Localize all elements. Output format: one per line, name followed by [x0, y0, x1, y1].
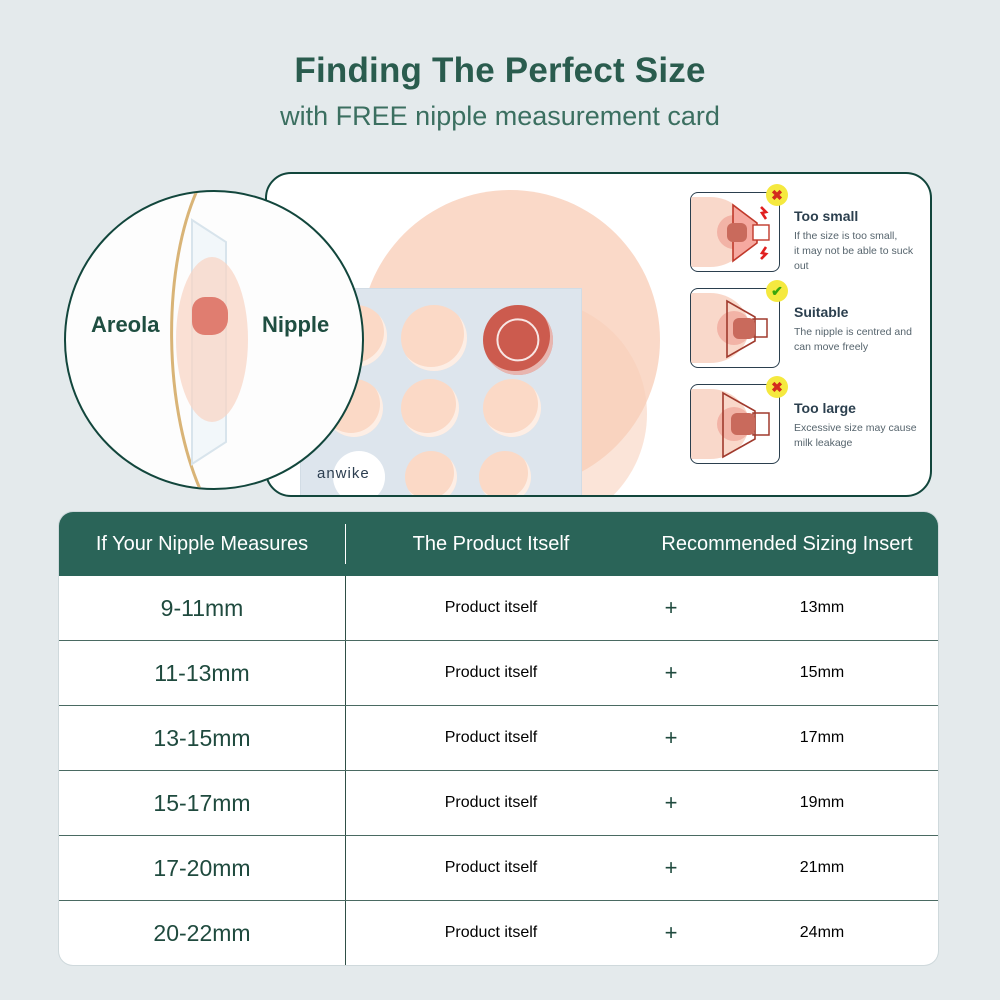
cell-plus: + [636, 920, 706, 946]
nipple-icon [727, 223, 747, 242]
table-row: 9-11mm Product itself + 13mm [59, 576, 938, 640]
sizing-table: If Your Nipple Measures The Product Itse… [59, 512, 938, 965]
page-subtitle: with FREE nipple measurement card [0, 102, 1000, 132]
table-body: 9-11mm Product itself + 13mm 11-13mm Pro… [59, 576, 938, 965]
fit-guide-title: Too large [794, 400, 917, 416]
zoom-detail-circle: Areola Nipple [64, 190, 364, 490]
cell-measure: 11-13mm [59, 641, 346, 705]
cell-insert: 19mm [706, 794, 938, 812]
fit-guide-list: ✖ Too small If the size is too small, it… [690, 192, 930, 480]
too-small-thumbnail: ✖ [690, 192, 780, 272]
measurement-hole [483, 379, 541, 437]
measurement-hole [401, 379, 459, 437]
cell-product: Product itself [346, 599, 636, 617]
cell-product: Product itself [346, 729, 636, 747]
areola-label: Areola [91, 312, 159, 338]
cell-measure: 17-20mm [59, 836, 346, 900]
fit-guide-title: Suitable [794, 304, 912, 320]
fit-guide-desc: The nipple is centred and can move freel… [794, 325, 912, 355]
fit-guide-item-suitable: ✔ Suitable The nipple is centred and can… [690, 288, 930, 384]
cell-plus: + [636, 725, 706, 751]
measurement-hole-selected [483, 305, 553, 375]
table-header-measures: If Your Nipple Measures [59, 524, 346, 564]
cell-insert: 17mm [706, 729, 938, 747]
cell-plus: + [636, 595, 706, 621]
cell-plus: + [636, 790, 706, 816]
cell-plus: + [636, 855, 706, 881]
page-title: Finding The Perfect Size [0, 52, 1000, 91]
page-header: Finding The Perfect Size with FREE nippl… [0, 52, 1000, 131]
cell-measure: 15-17mm [59, 771, 346, 835]
nipple-icon [731, 413, 755, 435]
cell-measure: 9-11mm [59, 576, 346, 640]
table-row: 15-17mm Product itself + 19mm [59, 770, 938, 835]
cell-measure: 20-22mm [59, 901, 346, 965]
cell-insert: 13mm [706, 599, 938, 617]
cell-product: Product itself [346, 859, 636, 877]
cell-insert: 24mm [706, 924, 938, 942]
table-header-row: If Your Nipple Measures The Product Itse… [59, 512, 938, 576]
too-large-thumbnail: ✖ [690, 384, 780, 464]
cross-icon: ✖ [766, 184, 788, 206]
fit-guide-title: Too small [794, 208, 930, 224]
table-row: 13-15mm Product itself + 17mm [59, 705, 938, 770]
fit-guide-item-too-small: ✖ Too small If the size is too small, it… [690, 192, 930, 288]
fit-guide-desc: If the size is too small, it may not be … [794, 229, 930, 275]
fit-guide-item-too-large: ✖ Too large Excessive size may cause mil… [690, 384, 930, 480]
nipple-icon [733, 318, 755, 339]
cell-product: Product itself [346, 924, 636, 942]
cell-insert: 21mm [706, 859, 938, 877]
measurement-hole [405, 451, 457, 497]
cell-measure: 13-15mm [59, 706, 346, 770]
areola-shape [176, 257, 248, 422]
cross-icon: ✖ [766, 376, 788, 398]
suitable-thumbnail: ✔ [690, 288, 780, 368]
nipple-shape [192, 297, 228, 335]
cell-product: Product itself [346, 664, 636, 682]
measurement-hole [479, 451, 531, 497]
table-header-product: The Product Itself [346, 533, 636, 555]
cell-product: Product itself [346, 794, 636, 812]
nipple-label: Nipple [262, 312, 329, 338]
check-icon: ✔ [766, 280, 788, 302]
fit-guide-desc: Excessive size may cause milk leakage [794, 421, 917, 451]
measurement-hole [401, 305, 467, 371]
table-row: 20-22mm Product itself + 24mm [59, 900, 938, 965]
table-row: 11-13mm Product itself + 15mm [59, 640, 938, 705]
cell-plus: + [636, 660, 706, 686]
table-header-insert: Recommended Sizing Insert [636, 533, 938, 555]
cell-insert: 15mm [706, 664, 938, 682]
table-row: 17-20mm Product itself + 21mm [59, 835, 938, 900]
